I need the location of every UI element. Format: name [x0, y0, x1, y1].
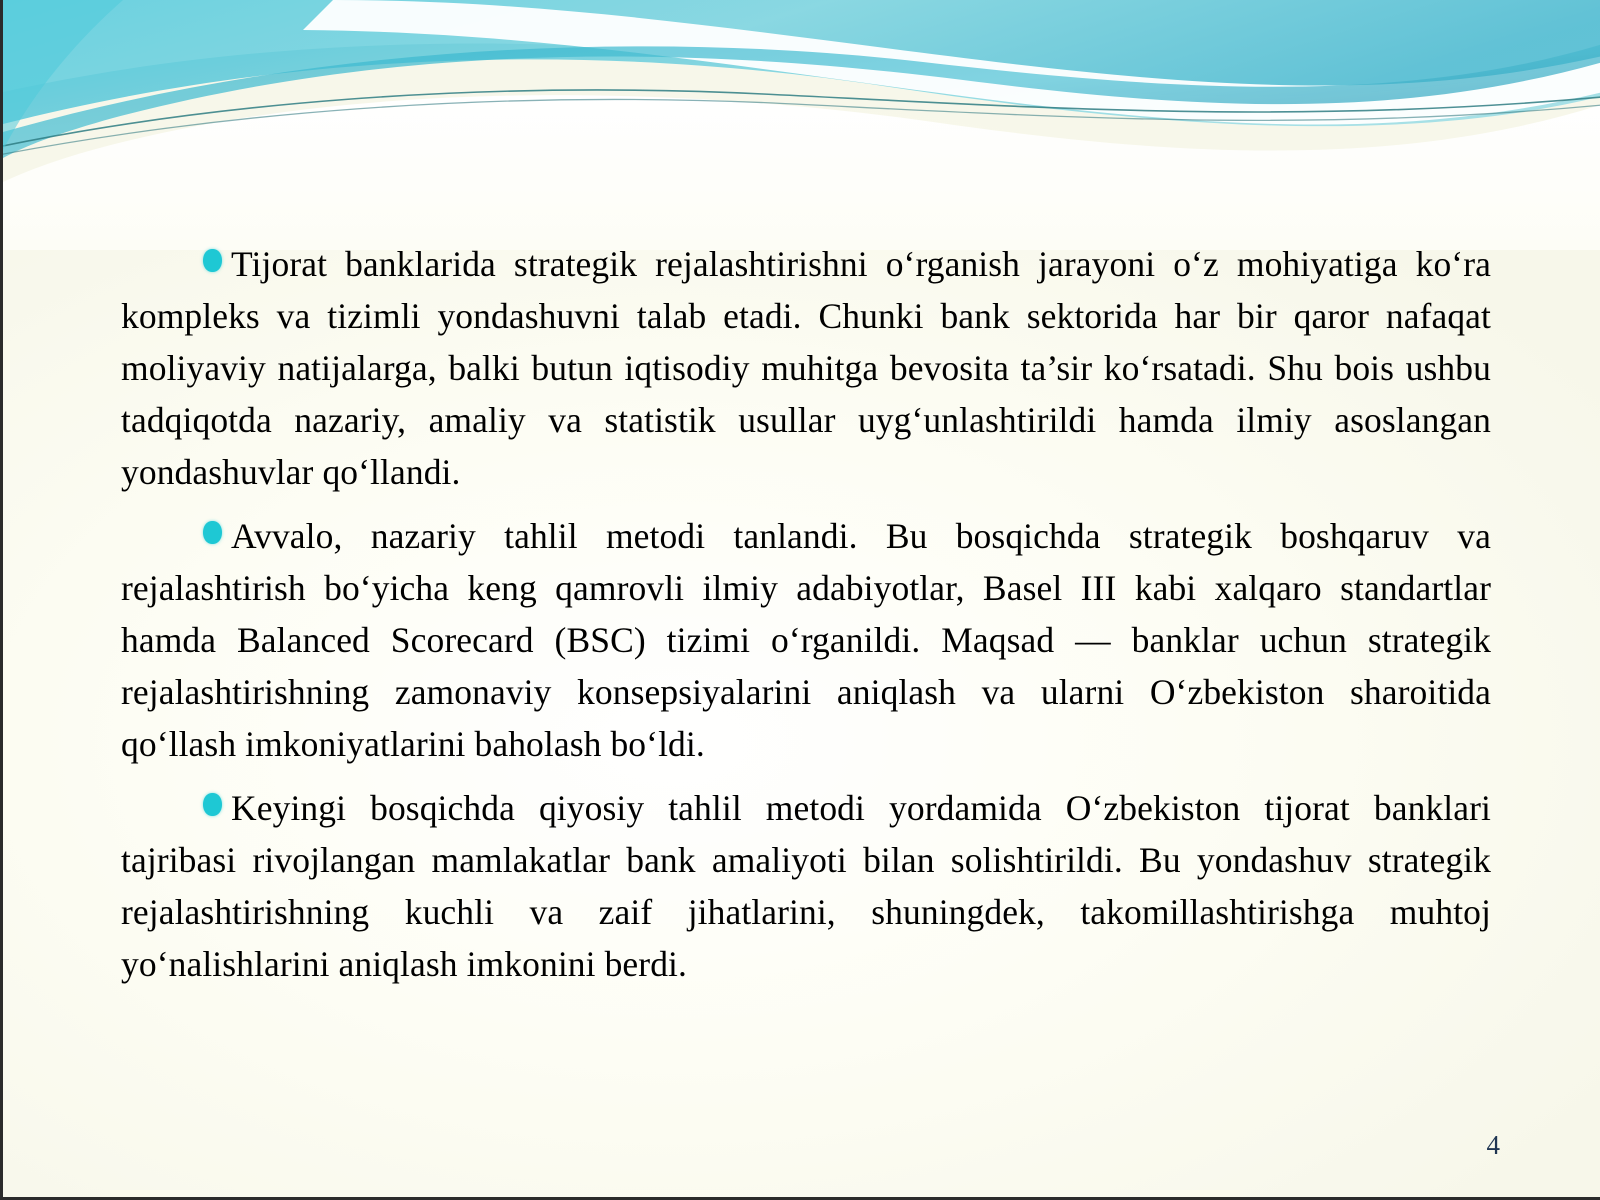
paragraph-text: Keyingi bosqichda qiyosiy tahlil metodi …	[121, 788, 1491, 984]
bullet-paragraph-2: Avvalo, nazariy tahlil metodi tanlandi. …	[121, 510, 1491, 770]
slide-body: Tijorat banklarida strategik rejalashtir…	[121, 238, 1491, 990]
bullet-paragraph-3: Keyingi bosqichda qiyosiy tahlil metodi …	[121, 782, 1491, 990]
paragraph-text: Avvalo, nazariy tahlil metodi tanlandi. …	[121, 516, 1491, 764]
teal-wave-banner	[3, 0, 1600, 250]
paragraph-text: Tijorat banklarida strategik rejalashtir…	[121, 244, 1491, 492]
cyan-oval-bullet-icon	[203, 521, 222, 544]
bullet-paragraph-1: Tijorat banklarida strategik rejalashtir…	[121, 238, 1491, 498]
cyan-oval-bullet-icon	[203, 249, 222, 272]
presentation-slide: Tijorat banklarida strategik rejalashtir…	[0, 0, 1600, 1200]
slide-page-number: 4	[1487, 1130, 1501, 1161]
cyan-oval-bullet-icon	[203, 793, 222, 816]
